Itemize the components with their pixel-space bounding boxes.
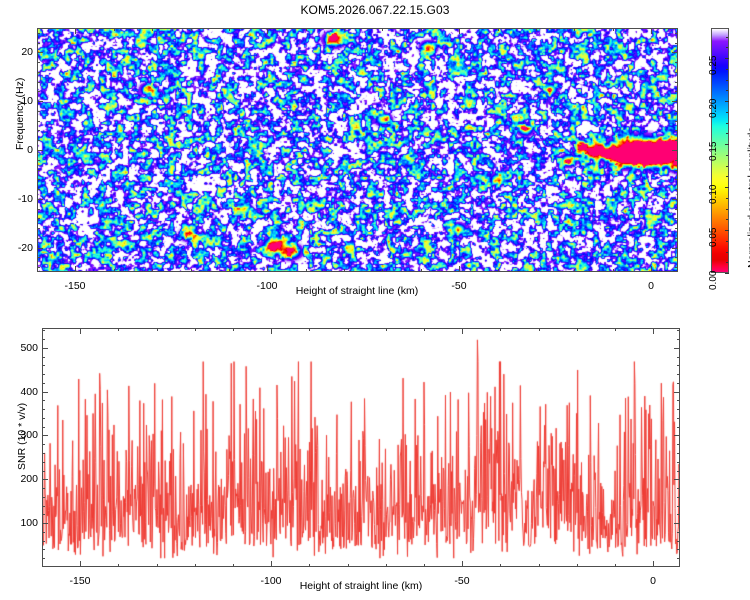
- spectrogram-y-tick: [37, 101, 43, 102]
- snr-x-minor-tick: [233, 564, 234, 567]
- spectrogram-x-minor-tick: [344, 269, 345, 272]
- colorbar-minor-tick: [726, 176, 728, 177]
- colorbar-minor-tick: [726, 123, 728, 124]
- snr-y-minor-tick-right: [677, 409, 680, 410]
- snr-y-tick-right: [674, 435, 680, 436]
- spectrogram-y-tick-right: [672, 101, 678, 102]
- spectrogram-x-minor-tick: [229, 269, 230, 272]
- spectrogram-x-minor-tick: [498, 269, 499, 272]
- spectrogram-y-minor-tick-right: [675, 130, 678, 131]
- snr-x-minor-tick: [577, 564, 578, 567]
- colorbar-minor-tick: [726, 133, 728, 134]
- spectrogram-x-tick-label: -50: [451, 280, 466, 292]
- snr-x-tick: [462, 561, 463, 567]
- spectrogram-y-minor-tick: [37, 238, 40, 239]
- snr-y-tick: [42, 348, 48, 349]
- snr-y-minor-tick: [42, 427, 45, 428]
- spectrogram-x-minor-tick-top: [191, 28, 192, 31]
- snr-y-tick-right: [674, 479, 680, 480]
- spectrogram-x-tick: [459, 266, 460, 272]
- spectrogram-y-minor-tick-right: [675, 238, 678, 239]
- spectrogram-image: [38, 29, 677, 271]
- spectrogram-x-minor-tick-top: [574, 28, 575, 31]
- snr-y-minor-tick-right: [677, 427, 680, 428]
- spectrogram-x-minor-tick-top: [421, 28, 422, 31]
- snr-y-minor-tick-right: [677, 383, 680, 384]
- spectrogram-y-tick-right: [672, 248, 678, 249]
- spectrogram-x-tick-top: [459, 28, 460, 34]
- colorbar-tick-label: 0.15: [708, 142, 719, 161]
- snr-y-minor-tick: [42, 497, 45, 498]
- colorbar-minor-tick: [726, 219, 728, 220]
- spectrogram-y-minor-tick: [37, 228, 40, 229]
- snr-x-tick-label: -50: [454, 575, 469, 587]
- spectrogram-y-minor-tick-right: [675, 257, 678, 258]
- spectrogram-y-minor-tick-right: [675, 43, 678, 44]
- spectrogram-x-minor-tick-top: [114, 28, 115, 31]
- snr-y-minor-tick: [42, 453, 45, 454]
- spectrogram-y-minor-tick: [37, 257, 40, 258]
- snr-trace-image: [43, 329, 679, 566]
- snr-y-tick-label: 200: [12, 473, 38, 485]
- spectrogram-y-tick: [37, 248, 43, 249]
- spectrogram-y-tick: [37, 150, 43, 151]
- colorbar-tick: [725, 230, 729, 231]
- spectrogram-x-minor-tick-top: [229, 28, 230, 31]
- spectrogram-x-minor-tick: [382, 269, 383, 272]
- spectrogram-x-tick: [75, 266, 76, 272]
- spectrogram-x-minor-tick: [613, 269, 614, 272]
- snr-x-tick-label: -100: [260, 575, 281, 587]
- snr-y-tick-label: 100: [12, 517, 38, 529]
- snr-y-minor-tick: [42, 330, 45, 331]
- spectrogram-x-axis-label: Height of straight line (km): [296, 285, 419, 297]
- spectrogram-x-tick-top: [267, 28, 268, 34]
- snr-x-tick-label: 0: [650, 575, 656, 587]
- snr-x-minor-tick-top: [615, 328, 616, 331]
- snr-y-minor-tick: [42, 471, 45, 472]
- spectrogram-y-minor-tick-right: [675, 179, 678, 180]
- colorbar-tick-label: 0.20: [708, 99, 719, 118]
- snr-y-minor-tick: [42, 357, 45, 358]
- snr-x-minor-tick: [424, 564, 425, 567]
- snr-y-minor-tick: [42, 374, 45, 375]
- snr-y-tick-right: [674, 392, 680, 393]
- spectrogram-y-minor-tick: [37, 62, 40, 63]
- snr-x-minor-tick: [539, 564, 540, 567]
- snr-x-minor-tick-top: [386, 328, 387, 331]
- snr-x-minor-tick-top: [233, 328, 234, 331]
- snr-y-minor-tick: [42, 365, 45, 366]
- snr-y-minor-tick-right: [677, 497, 680, 498]
- spectrogram-y-tick-right: [672, 199, 678, 200]
- spectrogram-y-minor-tick-right: [675, 170, 678, 171]
- snr-x-minor-tick: [386, 564, 387, 567]
- snr-x-minor-tick-top: [539, 328, 540, 331]
- snr-y-tick: [42, 523, 48, 524]
- spectrogram-y-minor-tick: [37, 189, 40, 190]
- snr-y-minor-tick: [42, 514, 45, 515]
- spectrogram-y-minor-tick-right: [675, 209, 678, 210]
- snr-x-minor-tick: [615, 564, 616, 567]
- snr-x-minor-tick: [118, 564, 119, 567]
- snr-y-minor-tick-right: [677, 357, 680, 358]
- snr-y-minor-tick-right: [677, 444, 680, 445]
- snr-y-minor-tick-right: [677, 514, 680, 515]
- spectrogram-y-minor-tick: [37, 33, 40, 34]
- snr-y-minor-tick-right: [677, 330, 680, 331]
- spectrogram-x-tick: [267, 266, 268, 272]
- spectrogram-y-tick: [37, 199, 43, 200]
- snr-y-minor-tick-right: [677, 541, 680, 542]
- colorbar-minor-tick: [726, 90, 728, 91]
- figure-title: KOM5.2026.067.22.15.G03: [0, 3, 750, 17]
- snr-y-minor-tick-right: [677, 558, 680, 559]
- spectrogram-x-tick-label: 0: [648, 280, 654, 292]
- snr-x-minor-tick-top: [309, 328, 310, 331]
- snr-y-minor-tick-right: [677, 549, 680, 550]
- spectrogram-x-tick-label: -150: [64, 280, 85, 292]
- colorbar-minor-tick: [726, 80, 728, 81]
- snr-y-tick: [42, 435, 48, 436]
- colorbar-tick: [725, 187, 729, 188]
- spectrogram-y-minor-tick-right: [675, 72, 678, 73]
- snr-y-minor-tick-right: [677, 471, 680, 472]
- snr-y-minor-tick-right: [677, 532, 680, 533]
- snr-y-minor-tick-right: [677, 506, 680, 507]
- colorbar-tick-label: 0.00: [708, 271, 719, 290]
- colorbar-title: Normalized spectral amplitude: [746, 127, 750, 268]
- snr-x-minor-tick: [195, 564, 196, 567]
- spectrogram-x-minor-tick: [114, 269, 115, 272]
- spectrogram-y-minor-tick-right: [675, 111, 678, 112]
- spectrogram-x-minor-tick-top: [382, 28, 383, 31]
- snr-y-axis-label: SNR (10 * v/v): [16, 403, 28, 470]
- snr-y-minor-tick: [42, 339, 45, 340]
- snr-x-tick-top: [80, 328, 81, 334]
- spectrogram-x-tick-label: -100: [256, 280, 277, 292]
- snr-x-minor-tick-top: [577, 328, 578, 331]
- spectrogram-x-minor-tick: [306, 269, 307, 272]
- snr-x-tick: [653, 561, 654, 567]
- spectrogram-y-tick: [37, 52, 43, 53]
- spectrogram-y-axis-label: Frequency (Hz): [14, 78, 26, 150]
- colorbar-tick: [725, 144, 729, 145]
- spectrogram-x-minor-tick-top: [613, 28, 614, 31]
- snr-y-tick-right: [674, 348, 680, 349]
- spectrogram-x-minor-tick-top: [306, 28, 307, 31]
- snr-y-tick: [42, 392, 48, 393]
- snr-x-minor-tick: [348, 564, 349, 567]
- snr-y-minor-tick-right: [677, 365, 680, 366]
- snr-x-tick: [80, 561, 81, 567]
- spectrogram-y-minor-tick-right: [675, 33, 678, 34]
- figure-root: KOM5.2026.067.22.15.G03 -150-100-500-20-…: [0, 0, 750, 600]
- snr-plot-area: [42, 328, 680, 567]
- spectrogram-x-minor-tick: [191, 269, 192, 272]
- spectrogram-y-minor-tick: [37, 170, 40, 171]
- colorbar-minor-tick: [726, 37, 728, 38]
- snr-y-tick-right: [674, 523, 680, 524]
- spectrogram-y-minor-tick-right: [675, 91, 678, 92]
- colorbar-minor-tick: [726, 47, 728, 48]
- snr-x-minor-tick-top: [157, 328, 158, 331]
- spectrogram-y-tick-label: -10: [11, 193, 33, 205]
- spectrogram-y-minor-tick-right: [675, 121, 678, 122]
- spectrogram-y-minor-tick: [37, 209, 40, 210]
- snr-y-minor-tick-right: [677, 374, 680, 375]
- snr-y-minor-tick: [42, 532, 45, 533]
- snr-x-minor-tick-top: [424, 328, 425, 331]
- spectrogram-y-minor-tick: [37, 91, 40, 92]
- colorbar-tick-label: 0.10: [708, 185, 719, 204]
- spectrogram-y-minor-tick: [37, 82, 40, 83]
- spectrogram-x-tick-top: [651, 28, 652, 34]
- snr-y-minor-tick-right: [677, 488, 680, 489]
- spectrogram-y-minor-tick-right: [675, 82, 678, 83]
- snr-y-minor-tick: [42, 506, 45, 507]
- snr-y-minor-tick-right: [677, 453, 680, 454]
- colorbar-tick: [725, 101, 729, 102]
- snr-x-tick-top: [271, 328, 272, 334]
- colorbar-minor-tick: [726, 112, 728, 113]
- spectrogram-y-tick-label: 20: [11, 46, 33, 58]
- spectrogram-x-minor-tick-top: [498, 28, 499, 31]
- spectrogram-y-minor-tick: [37, 140, 40, 141]
- spectrogram-y-minor-tick: [37, 72, 40, 73]
- spectrogram-x-minor-tick: [536, 269, 537, 272]
- spectrogram-y-minor-tick: [37, 130, 40, 131]
- colorbar-minor-tick: [726, 166, 728, 167]
- snr-y-minor-tick: [42, 541, 45, 542]
- spectrogram-y-minor-tick: [37, 160, 40, 161]
- snr-x-minor-tick-top: [118, 328, 119, 331]
- spectrogram-y-minor-tick-right: [675, 160, 678, 161]
- colorbar-minor-tick: [726, 252, 728, 253]
- spectrogram-y-minor-tick: [37, 218, 40, 219]
- snr-x-minor-tick-top: [348, 328, 349, 331]
- snr-x-minor-tick: [309, 564, 310, 567]
- snr-y-tick-label: 400: [12, 386, 38, 398]
- spectrogram-x-minor-tick: [574, 269, 575, 272]
- snr-x-axis-label: Height of straight line (km): [300, 580, 423, 592]
- spectrogram-y-tick-label: -20: [11, 242, 33, 254]
- snr-y-tick: [42, 479, 48, 480]
- colorbar-tick-label: 0.05: [708, 228, 719, 247]
- snr-y-tick-label: 500: [12, 342, 38, 354]
- colorbar-minor-tick: [726, 241, 728, 242]
- spectrogram-y-minor-tick: [37, 121, 40, 122]
- spectrogram-y-minor-tick-right: [675, 62, 678, 63]
- snr-x-tick: [271, 561, 272, 567]
- spectrogram-y-minor-tick-right: [675, 228, 678, 229]
- snr-y-minor-tick: [42, 418, 45, 419]
- spectrogram-plot-area: [37, 28, 678, 272]
- spectrogram-y-minor-tick: [37, 179, 40, 180]
- spectrogram-x-tick: [651, 266, 652, 272]
- spectrogram-x-minor-tick: [152, 269, 153, 272]
- spectrogram-x-minor-tick-top: [536, 28, 537, 31]
- snr-y-minor-tick: [42, 400, 45, 401]
- snr-x-minor-tick: [500, 564, 501, 567]
- spectrogram-y-minor-tick-right: [675, 267, 678, 268]
- snr-x-minor-tick-top: [195, 328, 196, 331]
- colorbar-tick: [725, 273, 729, 274]
- snr-y-minor-tick-right: [677, 418, 680, 419]
- spectrogram-y-minor-tick-right: [675, 140, 678, 141]
- snr-y-minor-tick-right: [677, 462, 680, 463]
- colorbar-tick-label: 0.25: [708, 56, 719, 75]
- snr-y-minor-tick-right: [677, 400, 680, 401]
- spectrogram-x-tick-top: [75, 28, 76, 34]
- colorbar-minor-tick: [726, 198, 728, 199]
- snr-y-minor-tick: [42, 558, 45, 559]
- snr-y-minor-tick-right: [677, 339, 680, 340]
- spectrogram-y-minor-tick: [37, 111, 40, 112]
- snr-x-minor-tick-top: [500, 328, 501, 331]
- colorbar-minor-tick: [726, 262, 728, 263]
- spectrogram-x-minor-tick-top: [344, 28, 345, 31]
- spectrogram-y-minor-tick: [37, 267, 40, 268]
- snr-x-minor-tick: [157, 564, 158, 567]
- spectrogram-x-minor-tick-top: [152, 28, 153, 31]
- snr-y-minor-tick: [42, 488, 45, 489]
- snr-x-tick-label: -150: [69, 575, 90, 587]
- snr-y-minor-tick: [42, 383, 45, 384]
- snr-y-minor-tick: [42, 409, 45, 410]
- snr-y-minor-tick: [42, 462, 45, 463]
- colorbar-minor-tick: [726, 155, 728, 156]
- snr-y-minor-tick: [42, 549, 45, 550]
- snr-x-tick-top: [653, 328, 654, 334]
- spectrogram-y-minor-tick-right: [675, 218, 678, 219]
- spectrogram-y-tick-right: [672, 150, 678, 151]
- spectrogram-y-minor-tick-right: [675, 189, 678, 190]
- spectrogram-y-tick-right: [672, 52, 678, 53]
- spectrogram-y-minor-tick: [37, 43, 40, 44]
- spectrogram-x-minor-tick: [421, 269, 422, 272]
- colorbar-minor-tick: [726, 69, 728, 70]
- colorbar-tick: [725, 58, 729, 59]
- snr-y-minor-tick: [42, 444, 45, 445]
- colorbar-minor-tick: [726, 209, 728, 210]
- snr-x-tick-top: [462, 328, 463, 334]
